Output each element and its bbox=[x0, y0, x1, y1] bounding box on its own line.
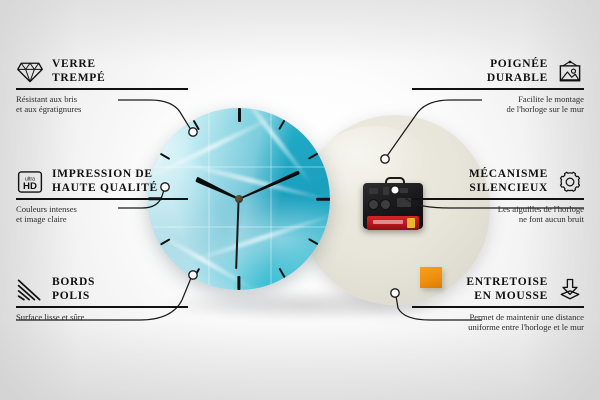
feature-desc-line2: de l'horloge sur le mur bbox=[507, 104, 584, 114]
feature-title: BORDS POLIS bbox=[52, 276, 95, 303]
feature-desc-line1: Permet de maintenir une distance bbox=[469, 312, 584, 322]
feature-desc-line2: ne font aucun bruit bbox=[519, 214, 584, 224]
feature-title-line2: EN MOUSSE bbox=[474, 290, 548, 302]
feature-desc-line1: Résistant aux bris bbox=[16, 94, 77, 104]
infographic-canvas: VERRE TREMPÉ Résistant aux bris et aux é… bbox=[0, 0, 600, 400]
feature-title: VERRE TREMPÉ bbox=[52, 58, 105, 85]
feature-divider bbox=[16, 198, 188, 200]
feature-title-line2: POLIS bbox=[52, 290, 90, 302]
feature-title-line2: TREMPÉ bbox=[52, 72, 105, 84]
feature-impression-haute-qualite: ultra HD IMPRESSION DE HAUTE QUALITÉ Cou… bbox=[16, 168, 188, 225]
feature-title-line2: HAUTE QUALITÉ bbox=[52, 182, 158, 194]
hanging-frame-icon bbox=[556, 59, 584, 85]
feature-bords-polis: BORDS POLIS Surface lisse et sûre bbox=[16, 276, 188, 322]
feature-divider bbox=[412, 306, 584, 308]
polished-edge-icon bbox=[16, 277, 44, 303]
feature-description: Facilite le montage de l'horloge sur le … bbox=[412, 94, 584, 115]
feature-desc-line1: Surface lisse et sûre bbox=[16, 312, 85, 322]
connector-dot-verre-trempe bbox=[189, 128, 197, 136]
feature-header-row: ENTRETOISE EN MOUSSE bbox=[412, 276, 584, 303]
feature-verre-trempe: VERRE TREMPÉ Résistant aux bris et aux é… bbox=[16, 58, 188, 115]
feature-desc-line2: et aux égratignures bbox=[16, 104, 81, 114]
feature-header-row: VERRE TREMPÉ bbox=[16, 58, 188, 85]
feature-desc-line2: uniforme entre l'horloge et le mur bbox=[468, 322, 584, 332]
feature-title-line1: POIGNÉE bbox=[490, 58, 548, 70]
feature-divider bbox=[16, 88, 188, 90]
feature-description: Couleurs intenses et image claire bbox=[16, 204, 188, 225]
feature-desc-line1: Facilite le montage bbox=[518, 94, 584, 104]
feature-desc-line2: et image claire bbox=[16, 214, 67, 224]
feature-title: ENTRETOISE EN MOUSSE bbox=[466, 276, 548, 303]
connector-dot-mecanisme bbox=[391, 186, 399, 194]
feature-description: Surface lisse et sûre bbox=[16, 312, 188, 323]
feature-title-line1: MÉCANISME bbox=[469, 168, 548, 180]
gear-icon bbox=[556, 169, 584, 195]
feature-title-line2: SILENCIEUX bbox=[469, 182, 548, 194]
feature-description: Les aiguilles de l'horloge ne font aucun… bbox=[412, 204, 584, 225]
feature-header-row: BORDS POLIS bbox=[16, 276, 188, 303]
feature-divider bbox=[16, 306, 188, 308]
feature-desc-line1: Les aiguilles de l'horloge bbox=[498, 204, 584, 214]
foam-spacer-icon bbox=[556, 277, 584, 303]
feature-title-line2: DURABLE bbox=[487, 72, 548, 84]
feature-desc-line1: Couleurs intenses bbox=[16, 204, 77, 214]
connector-dot-bords-polis bbox=[189, 271, 197, 279]
feature-header-row: ultra HD IMPRESSION DE HAUTE QUALITÉ bbox=[16, 168, 188, 195]
feature-divider bbox=[412, 88, 584, 90]
feature-header-row: MÉCANISME SILENCIEUX bbox=[412, 168, 584, 195]
connector-dot-entretoise bbox=[391, 289, 399, 297]
feature-poignee-durable: POIGNÉE DURABLE Facilite le montage de l… bbox=[412, 58, 584, 115]
feature-entretoise-en-mousse: ENTRETOISE EN MOUSSE Permet de maintenir… bbox=[412, 276, 584, 333]
feature-title: MÉCANISME SILENCIEUX bbox=[469, 168, 548, 195]
feature-description: Permet de maintenir une distance uniform… bbox=[412, 312, 584, 333]
feature-description: Résistant aux bris et aux égratignures bbox=[16, 94, 188, 115]
feature-header-row: POIGNÉE DURABLE bbox=[412, 58, 584, 85]
feature-mecanisme-silencieux: MÉCANISME SILENCIEUX Les aiguilles de l'… bbox=[412, 168, 584, 225]
feature-divider bbox=[412, 198, 584, 200]
feature-title-line1: BORDS bbox=[52, 276, 95, 288]
diamond-icon bbox=[16, 59, 44, 85]
ultra-hd-icon: ultra HD bbox=[16, 169, 44, 195]
feature-title: IMPRESSION DE HAUTE QUALITÉ bbox=[52, 168, 158, 195]
feature-title-line1: VERRE bbox=[52, 58, 96, 70]
connector-dot-poignee bbox=[381, 155, 389, 163]
feature-title-line1: IMPRESSION DE bbox=[52, 168, 153, 180]
feature-title: POIGNÉE DURABLE bbox=[487, 58, 548, 85]
ultra-hd-icon-big-text: HD bbox=[23, 181, 37, 192]
feature-title-line1: ENTRETOISE bbox=[466, 276, 548, 288]
